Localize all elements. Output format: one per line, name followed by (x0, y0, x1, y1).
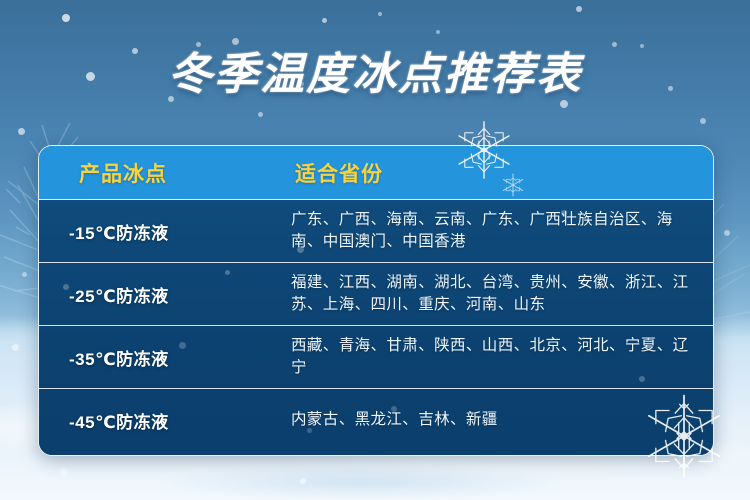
snowflake-icon (500, 172, 526, 198)
cell-provinces: 福建、江西、湖南、湖北、台湾、贵州、安徽、浙江、江苏、上海、四川、重庆、河南、山… (291, 272, 713, 317)
cell-provinces: 西藏、青海、甘肃、陕西、山西、北京、河北、宁夏、辽宁 (291, 335, 713, 380)
cell-freezing-point: -45℃防冻液 (39, 408, 291, 433)
winter-antifreeze-poster: 冬季温度冰点推荐表 产品冰点 适合省份 -15℃防冻液 广东、广西、海南、云南、… (0, 0, 750, 500)
column-header-freezing-point: 产品冰点 (39, 158, 291, 188)
cell-provinces: 广东、广西、海南、云南、广东、广西壮族自治区、海南、中国澳门、中国香港 (291, 209, 713, 254)
table-body: -15℃防冻液 广东、广西、海南、云南、广东、广西壮族自治区、海南、中国澳门、中… (39, 200, 713, 455)
table-row[interactable]: -25℃防冻液 福建、江西、湖南、湖北、台湾、贵州、安徽、浙江、江苏、上海、四川… (39, 263, 713, 326)
table-header-row: 产品冰点 适合省份 (39, 146, 713, 200)
table-row[interactable]: -35℃防冻液 西藏、青海、甘肃、陕西、山西、北京、河北、宁夏、辽宁 (39, 326, 713, 389)
page-title: 冬季温度冰点推荐表 (0, 38, 750, 102)
cell-freezing-point: -35℃防冻液 (39, 345, 291, 370)
table-row[interactable]: -45℃防冻液 内蒙古、黑龙江、吉林、新疆 (39, 389, 713, 452)
snowflake-icon (640, 392, 728, 480)
cell-freezing-point: -15℃防冻液 (39, 219, 291, 244)
antifreeze-recommendation-table: 产品冰点 适合省份 -15℃防冻液 广东、广西、海南、云南、广东、广西壮族自治区… (38, 145, 714, 456)
table-row[interactable]: -15℃防冻液 广东、广西、海南、云南、广东、广西壮族自治区、海南、中国澳门、中… (39, 200, 713, 263)
cell-freezing-point: -25℃防冻液 (39, 282, 291, 307)
